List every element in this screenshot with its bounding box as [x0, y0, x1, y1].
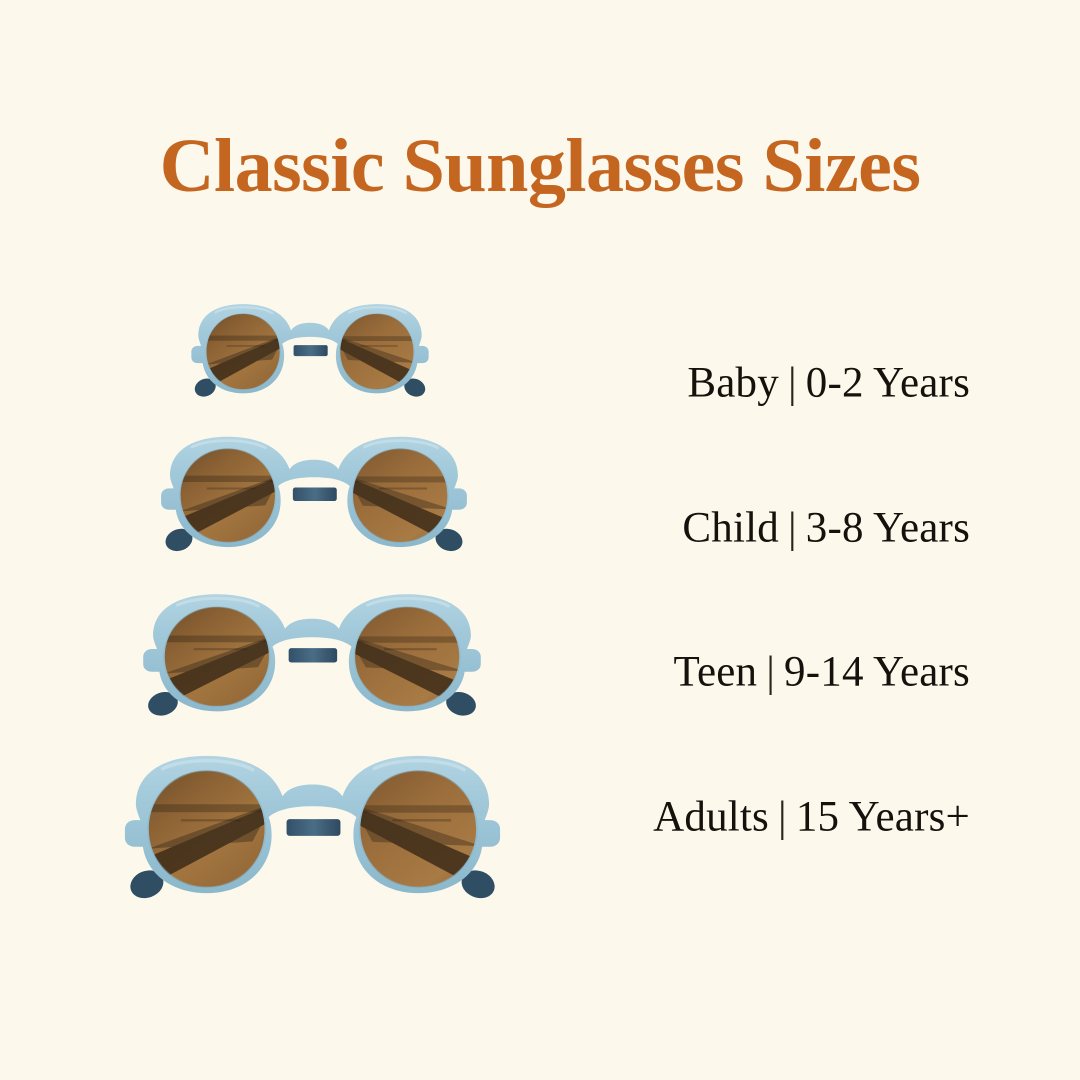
size-divider-adults: |: [769, 796, 796, 839]
size-age-range-child: 3-8 Years: [806, 505, 970, 552]
bridge-bar: [289, 648, 337, 662]
sunglasses-svg: [168, 297, 452, 403]
sunglasses-child: [131, 428, 497, 559]
size-divider-child: |: [779, 507, 806, 550]
size-age-range-adults: 15 Years+: [796, 794, 970, 841]
sunglasses-svg: [110, 585, 514, 724]
size-name-child: Child: [682, 505, 779, 552]
size-divider-teen: |: [757, 651, 784, 694]
sunglasses-adults: [88, 745, 537, 908]
bridge-bar: [294, 345, 328, 356]
size-name-adults: Adults: [653, 794, 769, 841]
size-label-adults: Adults|15 Years+: [653, 796, 970, 839]
size-name-baby: Baby: [687, 360, 779, 407]
size-age-range-teen: 9-14 Years: [784, 649, 970, 696]
sunglasses-svg: [131, 428, 497, 559]
sunglasses-teen: [110, 585, 514, 724]
size-label-baby: Baby|0-2 Years: [687, 362, 970, 405]
sunglasses-svg: [88, 745, 537, 908]
sunglasses-baby: [168, 297, 452, 403]
page-title: Classic Sunglasses Sizes: [0, 128, 1080, 204]
poster-canvas: Classic Sunglasses Sizes: [0, 0, 1080, 1080]
size-label-teen: Teen|9-14 Years: [673, 651, 970, 694]
size-label-child: Child|3-8 Years: [682, 507, 970, 550]
bridge-bar: [293, 488, 337, 501]
size-name-teen: Teen: [673, 649, 757, 696]
size-age-range-baby: 0-2 Years: [806, 360, 970, 407]
size-divider-baby: |: [779, 362, 806, 405]
bridge-bar: [287, 819, 341, 836]
